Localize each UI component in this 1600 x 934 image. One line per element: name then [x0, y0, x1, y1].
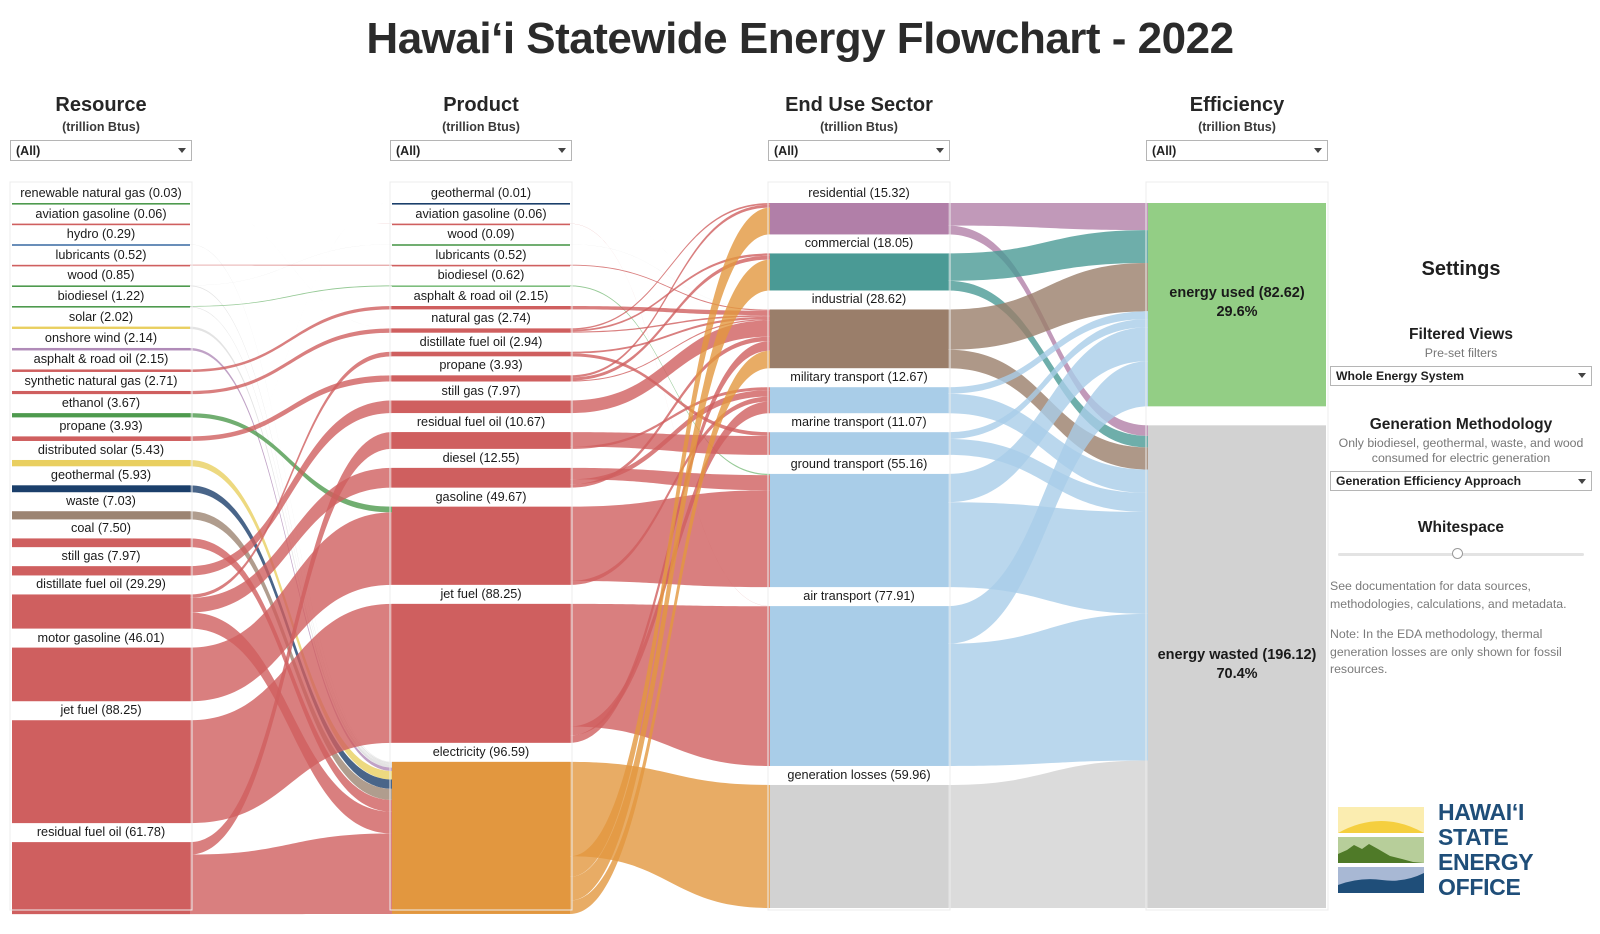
- sankey-node[interactable]: [12, 306, 190, 308]
- sankey-node[interactable]: [12, 224, 190, 226]
- sankey-node[interactable]: [12, 203, 190, 205]
- sankey-node[interactable]: [392, 468, 570, 488]
- sankey-node[interactable]: [12, 566, 190, 575]
- sankey-flow[interactable]: [948, 203, 1148, 230]
- logo-line-4: OFFICE: [1438, 875, 1533, 900]
- sankey-node[interactable]: [12, 485, 190, 492]
- sankey-node[interactable]: [392, 224, 570, 226]
- sankey-flow[interactable]: [190, 203, 392, 485]
- filtered-views-value: Whole Energy System: [1336, 369, 1578, 383]
- logo-line-2: STATE: [1438, 825, 1533, 850]
- logo-text: HAWAIʻI STATE ENERGY OFFICE: [1438, 800, 1533, 899]
- sankey-node[interactable]: [392, 352, 570, 357]
- hawaii-state-energy-office-logo: HAWAIʻI STATE ENERGY OFFICE: [1338, 802, 1593, 898]
- sankey-node[interactable]: [12, 538, 190, 547]
- mountain-icon: [1338, 837, 1424, 863]
- sankey-node[interactable]: [392, 375, 570, 381]
- settings-heading: Settings: [1330, 258, 1592, 281]
- sankey-node[interactable]: [770, 309, 948, 368]
- sankey-flow[interactable]: [190, 833, 392, 914]
- filtered-views-heading: Filtered Views: [1330, 326, 1592, 344]
- logo-line-1: HAWAIʻI: [1438, 800, 1533, 825]
- sankey-node[interactable]: [770, 606, 948, 766]
- whitespace-slider[interactable]: [1330, 546, 1592, 562]
- sankey-node[interactable]: [12, 842, 190, 914]
- sankey-node[interactable]: [12, 436, 190, 441]
- sankey-node[interactable]: [12, 244, 190, 246]
- sankey-flow[interactable]: [948, 760, 1148, 908]
- sankey-flow[interactable]: [948, 614, 1148, 766]
- sankey-node[interactable]: [12, 511, 190, 519]
- sankey-node[interactable]: [392, 285, 570, 287]
- sankey-node[interactable]: [392, 306, 570, 309]
- sankey-node[interactable]: [392, 401, 570, 414]
- sankey-node[interactable]: [392, 432, 570, 449]
- chevron-down-icon: [1578, 373, 1586, 378]
- sankey-node[interactable]: [12, 285, 190, 287]
- sankey-node[interactable]: [392, 265, 570, 267]
- sankey-node[interactable]: [770, 432, 948, 455]
- sankey-node[interactable]: [392, 244, 570, 246]
- sankey-node[interactable]: [392, 328, 570, 332]
- sankey-node[interactable]: [392, 203, 570, 205]
- sankey-node[interactable]: [12, 327, 190, 329]
- generation-methodology-subtitle: Only biodiesel, geothermal, waste, and w…: [1330, 436, 1592, 467]
- sankey-node[interactable]: [12, 460, 190, 466]
- sankey-flow[interactable]: [190, 285, 392, 306]
- sankey-node[interactable]: [392, 507, 570, 585]
- sun-icon: [1338, 807, 1424, 833]
- sankey-node[interactable]: [770, 785, 948, 908]
- sankey-node[interactable]: [12, 391, 190, 394]
- whitespace-heading: Whitespace: [1330, 519, 1592, 537]
- sankey-node[interactable]: [392, 762, 570, 914]
- methodology-note: Note: In the EDA methodology, thermal ge…: [1330, 626, 1592, 678]
- sankey-node[interactable]: [770, 203, 948, 234]
- sankey-node[interactable]: [12, 648, 190, 702]
- generation-methodology-dropdown[interactable]: Generation Efficiency Approach: [1330, 471, 1592, 491]
- whitespace-slider-handle[interactable]: [1452, 548, 1463, 559]
- sankey-node[interactable]: [12, 369, 190, 372]
- logo-graphic: [1338, 807, 1424, 893]
- generation-methodology-value: Generation Efficiency Approach: [1336, 474, 1578, 488]
- sankey-node[interactable]: [12, 413, 190, 417]
- sankey-node[interactable]: [770, 474, 948, 587]
- filtered-views-subtitle: Pre-set filters: [1330, 346, 1592, 362]
- logo-line-3: ENERGY: [1438, 850, 1533, 875]
- filtered-views-dropdown[interactable]: Whole Energy System: [1330, 366, 1592, 386]
- ocean-icon: [1338, 867, 1424, 893]
- sankey-node[interactable]: [1148, 203, 1326, 406]
- sankey-node[interactable]: [12, 594, 190, 628]
- sankey-flows: [190, 203, 1148, 914]
- sankey-node[interactable]: [12, 720, 190, 823]
- sankey-node[interactable]: [770, 253, 948, 290]
- sankey-node[interactable]: [12, 265, 190, 267]
- sankey-node[interactable]: [392, 604, 570, 743]
- sankey-node[interactable]: [12, 348, 190, 350]
- settings-panel: Settings Filtered Views Pre-set filters …: [1330, 258, 1592, 678]
- sankey-node[interactable]: [1148, 425, 1326, 908]
- documentation-note: See documentation for data sources, meth…: [1330, 578, 1592, 613]
- chevron-down-icon: [1578, 479, 1586, 484]
- sankey-node[interactable]: [770, 387, 948, 413]
- generation-methodology-heading: Generation Methodology: [1330, 416, 1592, 434]
